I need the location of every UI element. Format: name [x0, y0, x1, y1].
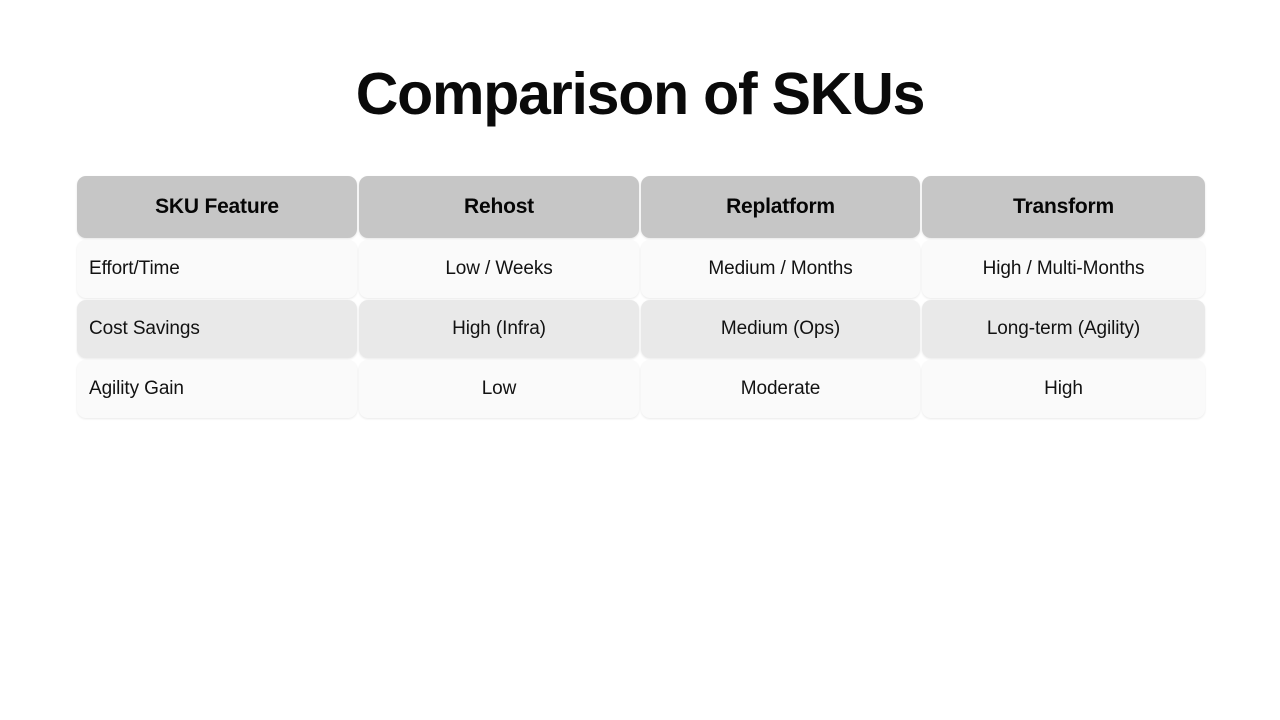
table-row: Agility Gain Low Moderate High	[77, 360, 1205, 418]
cell-cost-savings-rehost: High (Infra)	[359, 300, 639, 358]
row-label-cost-savings: Cost Savings	[77, 300, 357, 358]
cell-agility-gain-rehost: Low	[359, 360, 639, 418]
row-label-agility-gain: Agility Gain	[77, 360, 357, 418]
column-header-transform: Transform	[922, 176, 1205, 238]
column-header-replatform: Replatform	[641, 176, 920, 238]
table-header-row: SKU Feature Rehost Replatform Transform	[77, 176, 1205, 238]
column-header-rehost: Rehost	[359, 176, 639, 238]
cell-effort-time-transform: High / Multi-Months	[922, 240, 1205, 298]
slide-canvas: Comparison of SKUs SKU Feature Rehost Re…	[0, 0, 1280, 720]
page-title: Comparison of SKUs	[0, 56, 1280, 132]
cell-effort-time-rehost: Low / Weeks	[359, 240, 639, 298]
cell-agility-gain-replatform: Moderate	[641, 360, 920, 418]
cell-cost-savings-transform: Long-term (Agility)	[922, 300, 1205, 358]
table-row: Cost Savings High (Infra) Medium (Ops) L…	[77, 300, 1205, 358]
cell-cost-savings-replatform: Medium (Ops)	[641, 300, 920, 358]
comparison-table: SKU Feature Rehost Replatform Transform …	[77, 176, 1205, 418]
table-row: Effort/Time Low / Weeks Medium / Months …	[77, 240, 1205, 298]
column-header-sku-feature: SKU Feature	[77, 176, 357, 238]
cell-agility-gain-transform: High	[922, 360, 1205, 418]
row-label-effort-time: Effort/Time	[77, 240, 357, 298]
cell-effort-time-replatform: Medium / Months	[641, 240, 920, 298]
